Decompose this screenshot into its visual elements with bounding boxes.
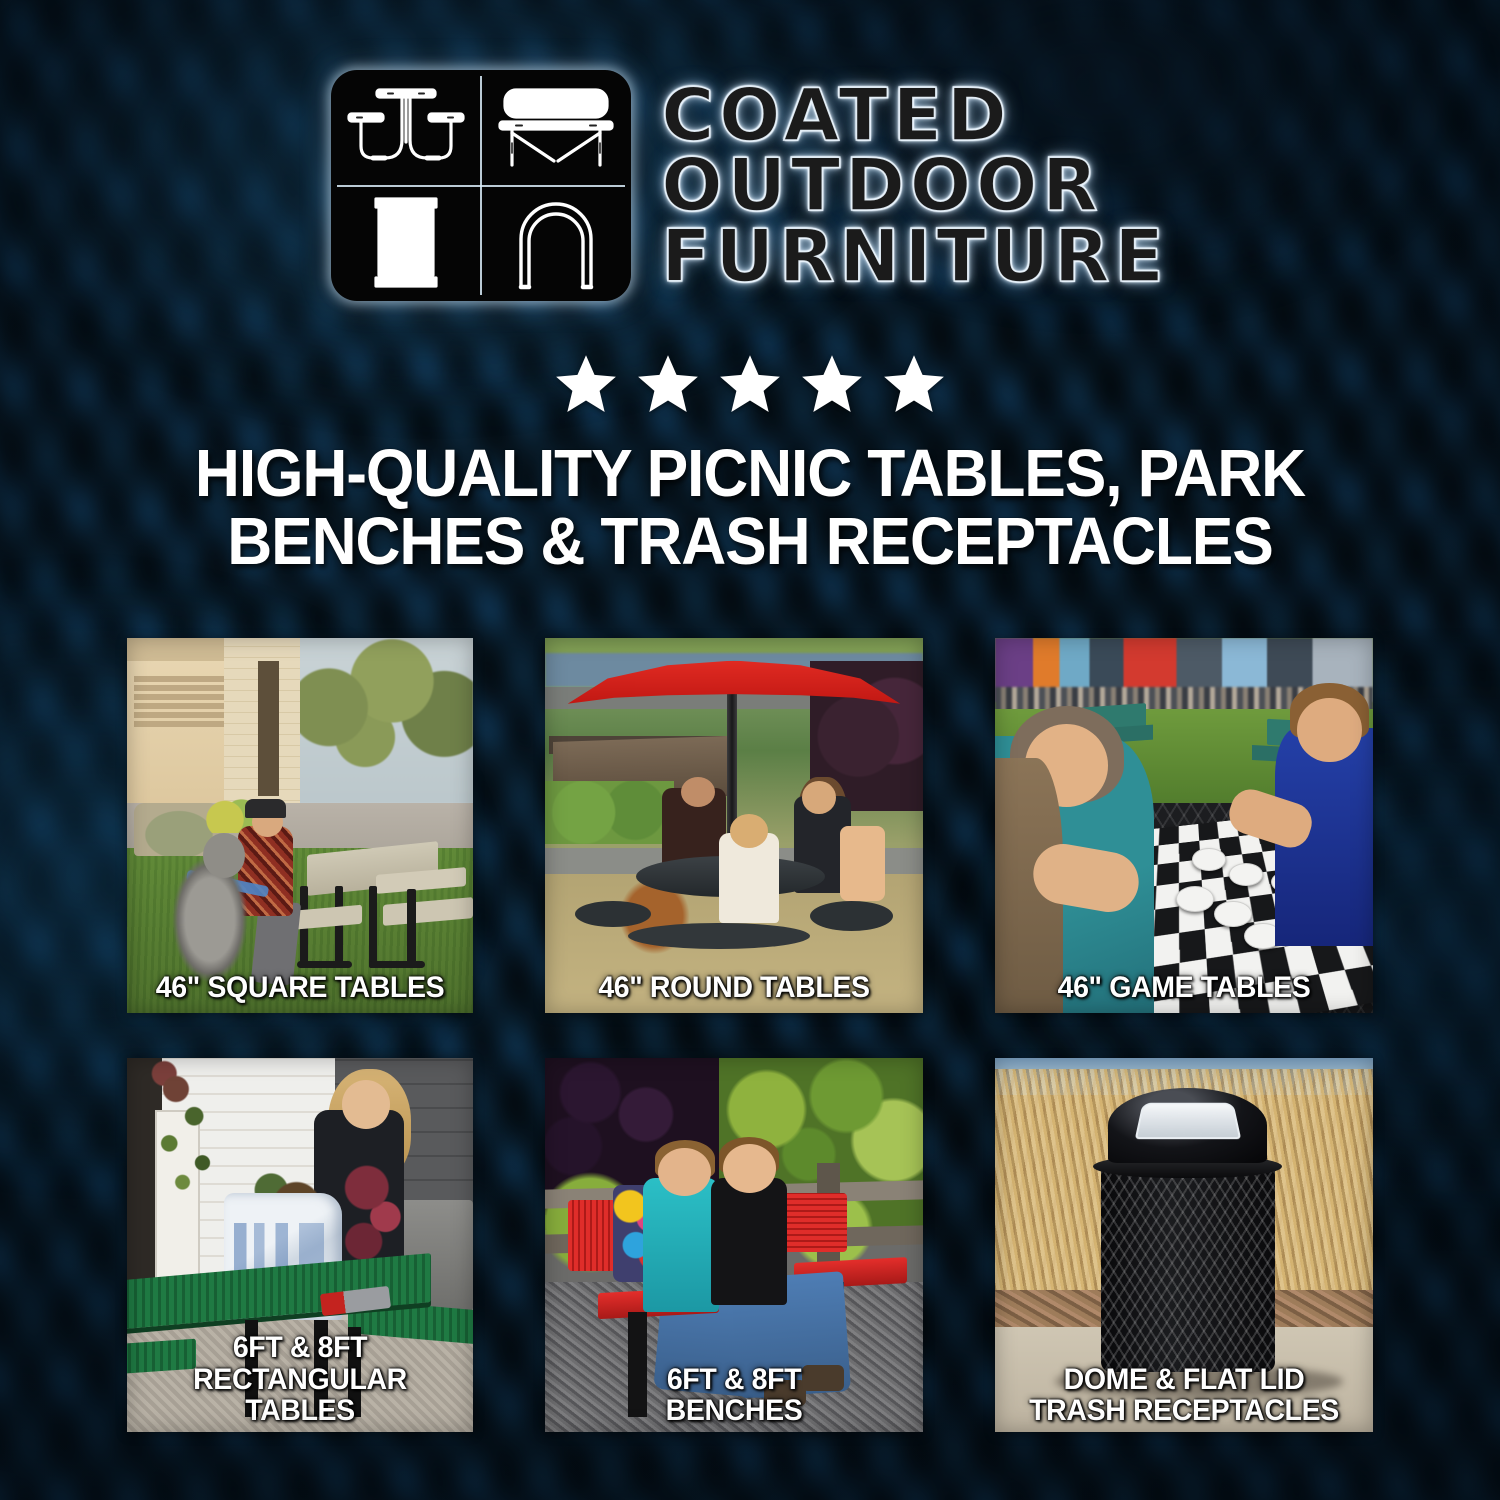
brand-wordmark: COATED OUTDOOR FURNITURE [661, 80, 1168, 292]
logo-divider-horizontal [337, 185, 625, 187]
logo-quadrant-bench [481, 70, 631, 186]
product-photo-round-tables [545, 638, 923, 1013]
brand-word-outdoor: OUTDOOR [661, 150, 1168, 221]
product-tile-grid: 46" SQUARE TABLES [127, 638, 1373, 1432]
logo-quadrant-picnic-table [331, 70, 481, 186]
product-tile-benches[interactable]: 6FT & 8FT BENCHES [545, 1058, 923, 1432]
product-photo-square-tables [127, 638, 473, 1013]
star-icon-2 [635, 352, 701, 416]
product-photo-rectangular-tables [127, 1058, 473, 1432]
product-photo-trash-receptacles [995, 1058, 1373, 1432]
headline-line-1: HIGH-QUALITY PICNIC TABLES, PARK [108, 440, 1391, 508]
star-icon-3 [717, 352, 783, 416]
brand-word-coated: COATED [661, 80, 1168, 151]
bike-rack-icon [513, 195, 599, 291]
logo-quadrant-bike-rack [481, 186, 631, 302]
trash-receptacle-icon [372, 195, 440, 291]
star-icon-4 [799, 352, 865, 416]
product-photo-game-tables [995, 638, 1373, 1013]
logo-quadrant-trash-receptacle [331, 186, 481, 302]
brand-logo: COATED OUTDOOR FURNITURE [0, 70, 1500, 301]
star-rating [0, 352, 1500, 416]
product-tile-game-tables[interactable]: 46" GAME TABLES [995, 638, 1373, 1013]
product-tile-round-tables[interactable]: 46" ROUND TABLES [545, 638, 923, 1013]
product-photo-benches [545, 1058, 923, 1432]
product-tile-trash-receptacles[interactable]: DOME & FLAT LID TRASH RECEPTACLES [995, 1058, 1373, 1432]
star-icon-5 [881, 352, 947, 416]
logo-mark-box [331, 70, 631, 301]
page-headline: HIGH-QUALITY PICNIC TABLES, PARK BENCHES… [108, 440, 1391, 577]
star-icon-1 [553, 352, 619, 416]
park-bench-icon [496, 83, 616, 173]
headline-line-2: BENCHES & TRASH RECEPTACLES [108, 508, 1391, 576]
product-tile-square-tables[interactable]: 46" SQUARE TABLES [127, 638, 473, 1013]
brand-word-furniture: FURNITURE [661, 221, 1168, 292]
picnic-table-icon [347, 84, 465, 172]
product-tile-rectangular-tables[interactable]: 6FT & 8FT RECTANGULAR TABLES [127, 1058, 473, 1432]
